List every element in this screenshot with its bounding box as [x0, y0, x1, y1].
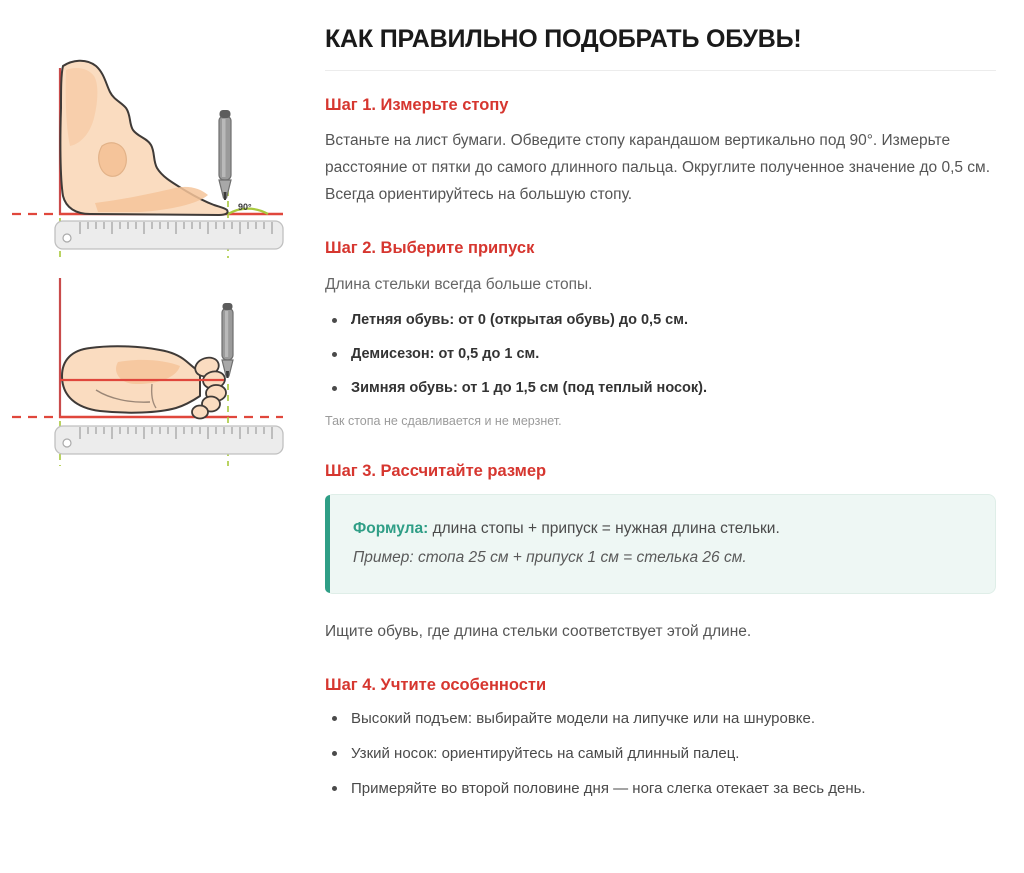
- ruler: [55, 221, 283, 249]
- list-item: Высокий подъем: выбирайте модели на липу…: [325, 708, 1010, 730]
- step-1-body: Встаньте на лист бумаги. Обведите стопу …: [325, 128, 997, 208]
- step-1-heading: Шаг 1. Измерьте стопу: [325, 95, 1010, 116]
- step-2-heading: Шаг 2. Выберите припуск: [325, 238, 1010, 259]
- list-item: Узкий носок: ориентируйтесь на самый дли…: [325, 743, 1010, 765]
- step-4-heading: Шаг 4. Учтите особенности: [325, 675, 1010, 696]
- formula-line: Формула: длина стопы + припуск = нужная …: [353, 517, 969, 542]
- list-item: Примеряйте во второй половине дня — нога…: [325, 778, 1010, 800]
- step-2-bullet-list: Летняя обувь: от 0 (открытая обувь) до 0…: [325, 310, 1010, 399]
- title-divider: [325, 70, 996, 71]
- foot-top-view-measurement: [0, 266, 320, 481]
- formula-example: Пример: стопа 25 см + припуск 1 см = сте…: [353, 546, 969, 571]
- ruler: [55, 426, 283, 454]
- pencil: [222, 303, 233, 378]
- toe-5: [192, 406, 208, 419]
- step-4-bullet-list: Высокий подъем: выбирайте модели на липу…: [325, 708, 1010, 799]
- formula-callout: Формула: длина стопы + припуск = нужная …: [325, 494, 996, 594]
- page-root: 90°: [0, 0, 1024, 873]
- list-item: Летняя обувь: от 0 (открытая обувь) до 0…: [325, 310, 1010, 331]
- list-item: Зимняя обувь: от 1 до 1,5 см (под теплый…: [325, 378, 1010, 399]
- step-3-heading: Шаг 3. Рассчитайте размер: [325, 461, 1010, 482]
- formula-label: Формула:: [353, 520, 428, 537]
- page-title: КАК ПРАВИЛЬНО ПОДОБРАТЬ ОБУВЬ!: [325, 24, 1010, 54]
- pencil: [219, 110, 231, 200]
- list-item: Демисезон: от 0,5 до 1 см.: [325, 344, 1010, 365]
- illustration-column: 90°: [0, 0, 320, 873]
- foot-side-view-measurement: 90°: [0, 18, 320, 266]
- formula-text: длина стопы + припуск = нужная длина сте…: [428, 520, 779, 537]
- content-column: КАК ПРАВИЛЬНО ПОДОБРАТЬ ОБУВЬ! Шаг 1. Из…: [320, 0, 1024, 873]
- step-3-after-text: Ищите обувь, где длина стельки соответст…: [325, 620, 1010, 645]
- step-2-note: Так стопа не сдавливается и не мерзнет.: [325, 412, 1010, 431]
- ankle-bone-shading: [99, 143, 127, 176]
- step-2-lead: Длина стельки всегда больше стопы.: [325, 272, 1010, 298]
- angle-label: 90°: [238, 202, 252, 212]
